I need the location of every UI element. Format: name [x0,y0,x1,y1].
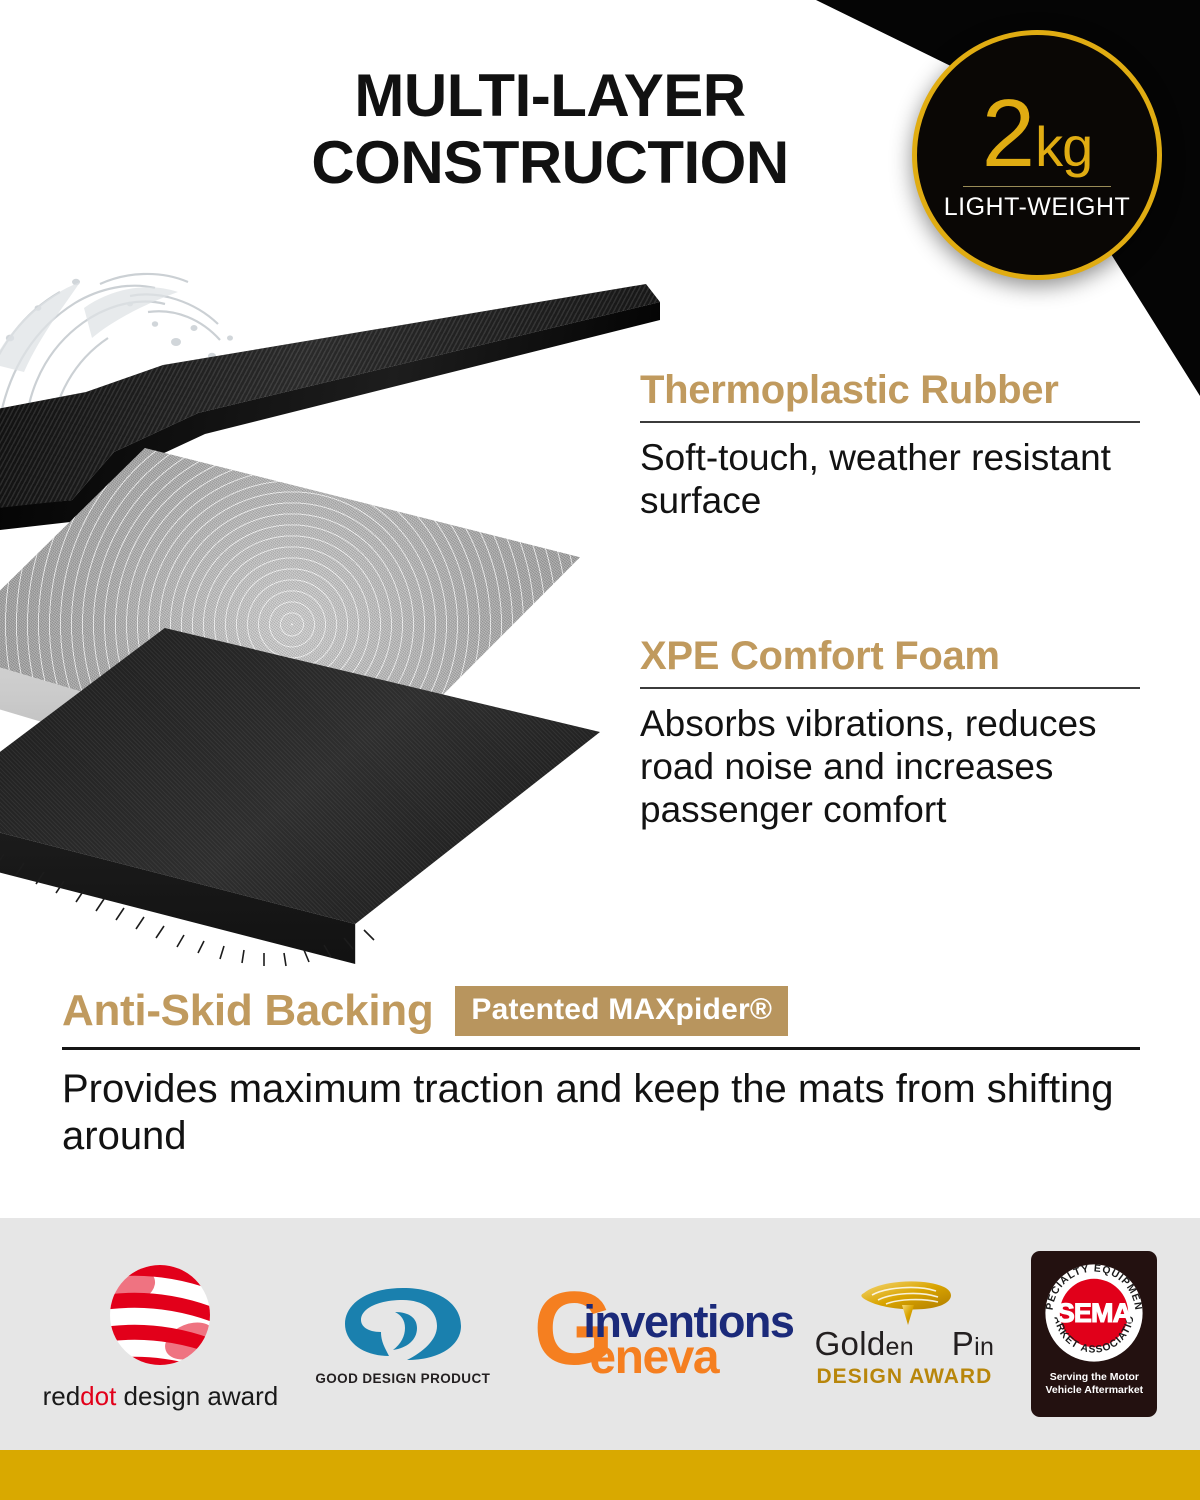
backing-fringe [0,628,600,1028]
awards-strip: reddot design award GOOD DESIGN PRODUCT … [0,1218,1200,1450]
feature-1-rule [640,421,1140,423]
patent-badge: Patented MAXpider® [455,986,788,1036]
golden-pin-icon [844,1279,964,1327]
feature-1-heading: Thermoplastic Rubber [640,368,1160,412]
award-inventions-geneva: G inventions eneva [527,1282,777,1386]
anti-skid-rule [62,1047,1140,1050]
geneva-eneva-word: eneva [589,1330,718,1385]
good-design-label: GOOD DESIGN PRODUCT [315,1371,490,1386]
anti-skid-body: Provides maximum traction and keep the m… [62,1066,1140,1160]
geneva-logo: G inventions eneva [527,1282,777,1386]
weight-unit: kg [1035,120,1092,173]
anti-skid-heading-row: Anti-Skid Backing Patented MAXpider® [62,986,1140,1036]
title-line-2: CONSTRUCTION [200,129,900,196]
feature-1-body: Soft-touch, weather resistant surface [640,437,1160,523]
sema-seal-icon: SPECIALTY EQUIPMENT MARKET ASSOCIATION S… [1040,1259,1148,1367]
award-sema: SPECIALTY EQUIPMENT MARKET ASSOCIATION S… [1031,1251,1157,1417]
infographic-page: MULTI-LAYER CONSTRUCTION 2 kg LIGHT-WEIG… [0,0,1200,1500]
weight-value: 2 kg [982,88,1093,183]
product-layers-illustration [0,268,680,968]
title-line-1: MULTI-LAYER [200,62,900,129]
feature-2-rule [640,687,1140,689]
feature-2-heading: XPE Comfort Foam [640,634,1160,678]
award-good-design: GOOD DESIGN PRODUCT [315,1282,490,1386]
weight-label: LIGHT-WEIGHT [944,193,1131,222]
anti-skid-heading: Anti-Skid Backing [62,986,433,1036]
anti-skid-backing-layer [0,628,600,1028]
bottom-gold-bar [0,1450,1200,1500]
golden-pin-title: Golden Pin [815,1325,995,1363]
weight-number: 2 [982,88,1033,179]
page-title: MULTI-LAYER CONSTRUCTION [200,62,900,196]
feature-anti-skid-backing: Anti-Skid Backing Patented MAXpider® Pro… [62,986,1140,1160]
sema-tagline: Serving the Motor Vehicle Aftermarket [1046,1371,1144,1397]
award-reddot: reddot design award [43,1257,279,1412]
award-golden-pin: Golden Pin DESIGN AWARD [815,1279,995,1389]
sema-badge: SPECIALTY EQUIPMENT MARKET ASSOCIATION S… [1031,1251,1157,1417]
reddot-sphere-icon [102,1257,218,1373]
feature-xpe-comfort-foam: XPE Comfort Foam Absorbs vibrations, red… [640,634,1160,832]
golden-pin-logo: Golden Pin DESIGN AWARD [815,1279,995,1389]
feature-thermoplastic-rubber: Thermoplastic Rubber Soft-touch, weather… [640,368,1160,523]
svg-text:SEMA: SEMA [1057,1298,1132,1328]
feature-2-body: Absorbs vibrations, reduces road noise a… [640,703,1160,832]
golden-pin-subtitle: DESIGN AWARD [817,1365,993,1389]
badge-divider [963,186,1111,187]
weight-badge: 2 kg LIGHT-WEIGHT [912,30,1162,280]
good-design-monogram-icon [337,1282,469,1366]
reddot-label: reddot design award [43,1381,279,1412]
